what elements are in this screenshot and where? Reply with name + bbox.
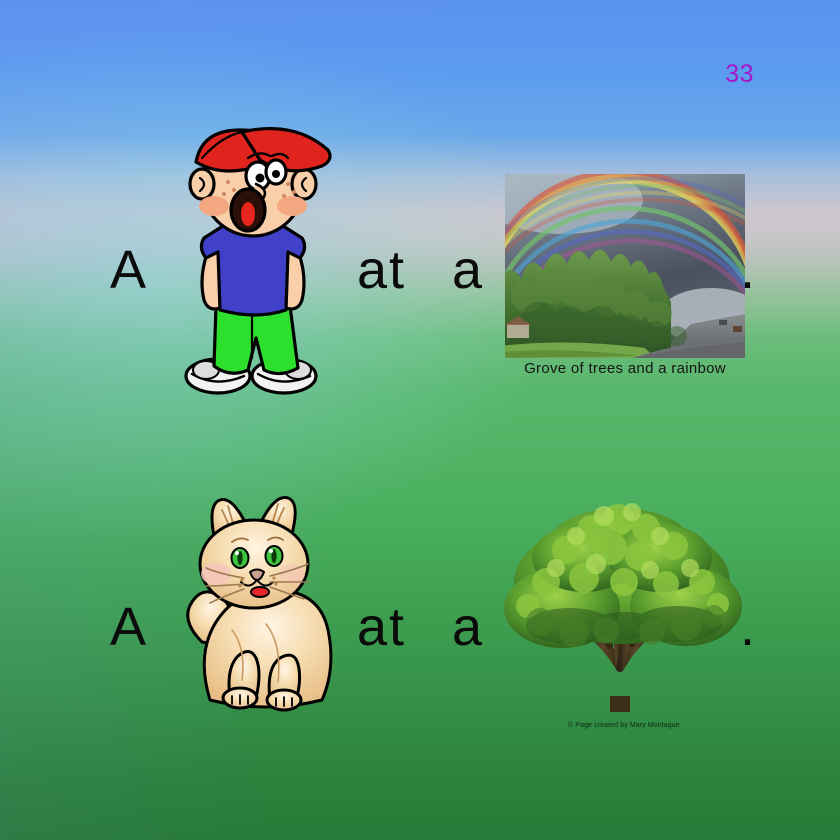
tree-photo-block	[500, 486, 750, 716]
rainbow-photo-caption: Grove of trees and a rainbow	[505, 360, 745, 377]
cat-clipart	[170, 492, 350, 718]
row1-word-article1: A	[110, 243, 148, 297]
row2-word-article1: A	[110, 600, 148, 654]
boy-clipart	[172, 118, 352, 398]
page-credit: © Page created by Mary Montague	[568, 722, 680, 729]
row1-word-verb: at	[357, 243, 406, 297]
row2-word-article2: a	[452, 600, 484, 654]
tree-photo	[500, 486, 750, 716]
rainbow-photo	[505, 174, 745, 358]
row1-word-article2: a	[452, 243, 484, 297]
row2-word-period: .	[740, 600, 757, 654]
page-number: 33	[725, 60, 754, 89]
reading-page: 33 A at a .	[0, 0, 840, 840]
row2-word-verb: at	[357, 600, 406, 654]
rainbow-photo-block: Grove of trees and a rainbow	[505, 174, 745, 377]
row1-word-period: .	[740, 243, 757, 297]
